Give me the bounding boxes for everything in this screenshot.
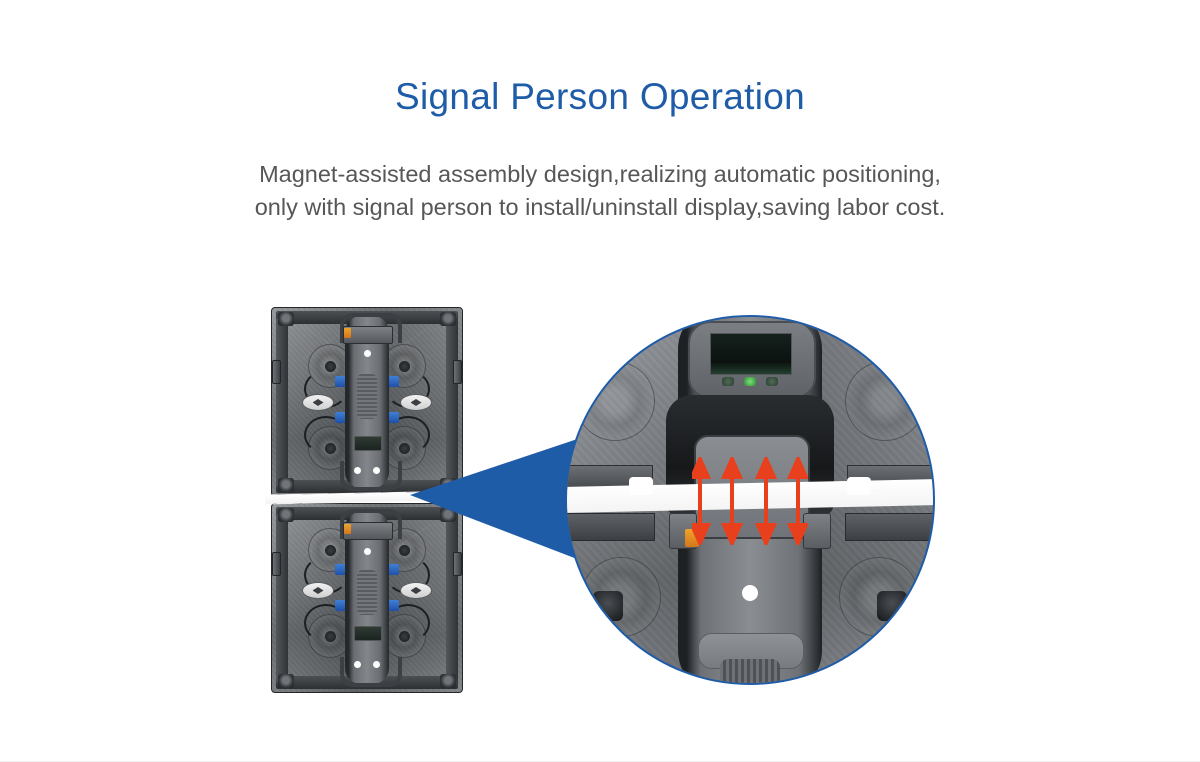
carry-handle: [340, 657, 402, 687]
status-lcd: [354, 626, 382, 641]
page-subtitle: Magnet-assisted assembly design,realizin…: [0, 158, 1200, 224]
cabinet-foot: [720, 659, 780, 685]
status-lcd: [354, 436, 382, 451]
double-arrow: [790, 459, 806, 543]
cable-connector: [877, 591, 907, 621]
page-title: Signal Person Operation: [0, 76, 1200, 118]
subtitle-line-1: Magnet-assisted assembly design,realizin…: [0, 158, 1200, 191]
led-cabinet-bottom: [271, 503, 463, 693]
side-tab: [453, 360, 462, 384]
led-cabinet-stack: [271, 307, 463, 693]
corner-lock-icon: [440, 478, 456, 492]
seam-tab: [629, 477, 653, 495]
power-port: [400, 582, 432, 599]
corner-lock-icon: [278, 312, 294, 326]
fan-icon: [575, 361, 655, 441]
cabinet-rail-right: [446, 514, 458, 682]
indicator-led: [722, 377, 734, 386]
power-port: [302, 394, 334, 411]
double-arrow: [724, 459, 740, 543]
corner-lock-icon: [278, 508, 294, 522]
corner-lock-icon: [440, 508, 456, 522]
magnet-dot: [354, 467, 361, 474]
detail-rail-left-lower: [565, 513, 655, 541]
cabinet-rail-left: [276, 514, 288, 682]
double-arrow: [692, 459, 708, 543]
subtitle-line-2: only with signal person to install/unins…: [0, 191, 1200, 224]
magnet-dot: [364, 350, 371, 357]
detail-rail-right-lower: [845, 513, 935, 541]
magnet-dot: [373, 467, 380, 474]
power-port: [400, 394, 432, 411]
magnet-dot: [354, 661, 361, 668]
double-arrow: [758, 459, 774, 543]
cabinet-rail-left: [276, 318, 288, 486]
side-tab: [453, 552, 462, 576]
indicator-led: [766, 377, 778, 386]
corner-lock-icon: [440, 674, 456, 688]
corner-lock-icon: [278, 674, 294, 688]
orange-latch-icon: [344, 328, 351, 338]
fan-icon: [845, 361, 925, 441]
magnet-dot: [364, 548, 371, 555]
led-cabinet-top: [271, 307, 463, 497]
cable-connector: [593, 591, 623, 621]
seam-tab: [847, 477, 871, 495]
blue-connector: [388, 600, 399, 611]
side-tab: [272, 360, 281, 384]
carry-handle: [340, 461, 402, 491]
blue-connector: [388, 564, 399, 575]
corner-lock-icon: [278, 478, 294, 492]
cabinet-rail-right: [446, 318, 458, 486]
magnet-dot: [742, 585, 758, 601]
magnet-direction-arrows: [692, 457, 808, 545]
blue-connector: [388, 412, 399, 423]
magnifier-callout: [565, 315, 935, 685]
status-lcd: [710, 333, 792, 375]
side-tab: [272, 552, 281, 576]
corner-lock-icon: [440, 312, 456, 326]
magnet-dot: [373, 661, 380, 668]
blue-connector: [388, 376, 399, 387]
orange-latch-icon: [344, 524, 351, 534]
power-port: [302, 582, 334, 599]
indicator-led: [744, 377, 756, 386]
product-figure: [0, 270, 1200, 720]
